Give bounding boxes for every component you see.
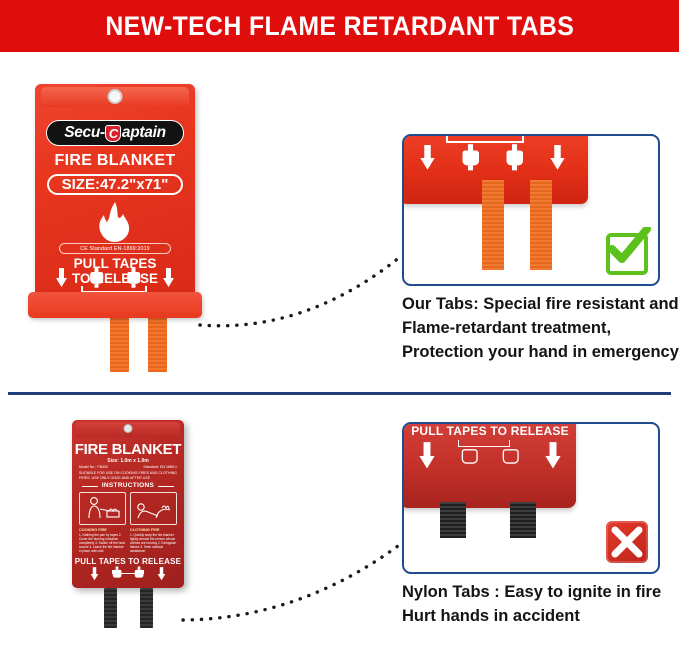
hand-pull-icon [461,144,480,171]
instruction-text-columns: COOKING FIRE 1. Nothing the pan by tapes… [79,528,177,553]
orange-tab-right [530,180,552,270]
down-arrow-icon [419,145,436,171]
product-name-top: FIRE BLANKET [35,152,195,170]
caption-nylon-tabs: Nylon Tabs : Easy to ignite in fire Hurt… [402,580,679,628]
pull-icon-row-bottom [72,566,184,581]
check-mark-box [606,233,648,275]
top-comparison-section: Secu-Captain FIRE BLANKET SIZE:47.2"x71"… [0,52,679,382]
product-package-top: Secu-Captain FIRE BLANKET SIZE:47.2"x71"… [35,84,195,299]
pull-tapes-instruction-bottom: PULL TAPES TO RELEASE [72,557,184,566]
connector-line-top [195,247,410,337]
hand-pull-icon [126,267,141,288]
hand-pull-icon [112,566,122,581]
pull-icon-row-top [35,267,195,288]
certification-badge: CE Standard EN-1869:2019 [59,243,171,254]
instruction-heading: CLOTHING FIRE [130,528,177,532]
product-size-top: SIZE:47.2"x71" [47,174,183,195]
down-arrow-icon [157,567,166,581]
model-number: Model No : FB400 [79,465,108,470]
pull-icon-row-panel-bottom [406,442,574,470]
brand-prefix: Secu- [64,124,105,142]
brand-suffix: aptain [122,124,166,142]
hand-pull-icon [89,267,104,288]
cross-mark-icon [606,521,648,563]
detail-panel-nylon-tabs: PULL TAPES TO RELEASE [402,422,660,574]
instruction-heading: COOKING FIRE [79,528,126,532]
black-nylon-tab-left [440,502,466,538]
pull-icon-row-panel-top [406,144,578,171]
hand-pull-icon [134,566,144,581]
connector-line-bottom [180,535,410,625]
hand-pull-icon [461,443,478,469]
nylon-tab-right [140,588,153,628]
brand-logo-text: Secu-Captain [64,124,166,142]
down-arrow-icon [90,567,99,581]
product-fine-print-row: Model No : FB400 Standard: EN 1869:1 [79,465,177,470]
hang-hole-grommet [108,89,123,104]
instruction-illustrations [79,492,177,525]
cooking-fire-illustration [79,492,126,525]
product-package-bottom: FIRE BLANKET Size: 1.0m x 1.0m Model No … [72,420,184,588]
caption-our-tabs: Our Tabs: Special fire resistant and Fla… [402,292,679,364]
instruction-body: 1. Nothing the pan by tapes 2. Cover the… [79,533,126,553]
instruction-column: CLOTHING FIRE 1. Quickly wrap the fire b… [130,528,177,553]
brand-logo: Secu-Captain [46,120,184,146]
product-usage-note: SUITABLE FOR USE ON COOKING FIRES AND CL… [79,471,177,480]
product-name-bottom: FIRE BLANKET [72,441,184,458]
black-nylon-tab-right [510,502,536,538]
instruction-column: COOKING FIRE 1. Nothing the pan by tapes… [79,528,126,553]
instruction-body: 1. Quickly wrap the fire blanket tightly… [130,533,177,553]
down-arrow-icon [55,268,68,288]
standard-code: Standard: EN 1869:1 [143,465,177,470]
page-header: NEW-TECH FLAME RETARDANT TABS [0,0,679,52]
panel-pull-label: PULL TAPES TO RELEASE [406,424,574,438]
bottom-comparison-section: FIRE BLANKET Size: 1.0m x 1.0m Model No … [0,400,679,652]
product-size-bottom: Size: 1.0m x 1.0m [72,458,184,464]
page-title: NEW-TECH FLAME RETARDANT TABS [105,11,574,42]
hand-pull-icon [502,443,519,469]
down-arrow-icon [162,268,175,288]
orange-tab-left [482,180,504,270]
hand-pull-icon [505,144,524,171]
rejected-mark [606,521,648,563]
detail-panel-our-tabs [402,134,660,286]
cross-mark-box [606,521,648,563]
shield-icon: C [105,125,121,142]
instructions-heading: INSTRUCTIONS [72,482,184,489]
person-covering-pan-icon [83,496,123,522]
down-arrow-icon [544,442,562,470]
person-wrapping-icon [134,496,174,522]
clothing-fire-illustration [130,492,177,525]
blanket-fabric-edge: PULL TAPES TO RELEASE [402,422,576,508]
package-base-band [28,292,202,318]
approved-mark [606,233,648,275]
down-arrow-icon [418,442,436,470]
down-arrow-icon [549,145,566,171]
check-mark-icon [605,227,653,269]
bracket-graphic [446,134,524,143]
nylon-tab-left [104,588,117,628]
section-divider [8,392,671,395]
hang-hole-grommet [124,424,133,433]
